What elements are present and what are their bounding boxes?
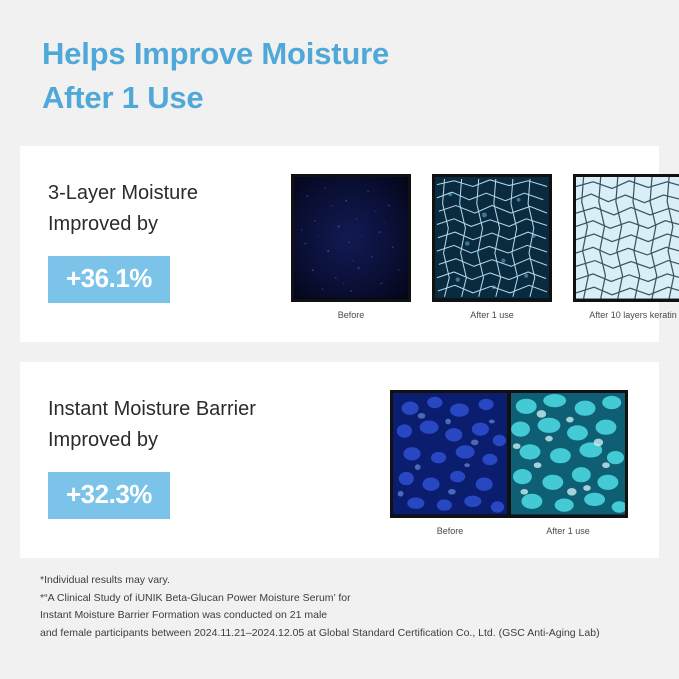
micrograph-texture	[294, 177, 408, 299]
card-2-caption-before: Before	[390, 526, 510, 536]
card-2-caption-after-1-use: After 1 use	[508, 526, 628, 536]
footnote-line-2: *“A Clinical Study of iUNIK Beta-Glucan …	[40, 590, 640, 608]
page-title-line-1: Helps Improve Moisture	[42, 32, 642, 76]
micrograph-before-2	[390, 390, 510, 518]
result-card-instant-moisture-barrier: Instant Moisture Barrier Improved by +32…	[20, 362, 659, 558]
card-1-image-cell-after-1-use: After 1 use	[432, 174, 552, 302]
micrograph-texture	[511, 393, 625, 515]
card-1-caption-after-1-use: After 1 use	[432, 310, 552, 320]
card-1-improvement-badge: +36.1%	[48, 256, 170, 303]
card-2-image-cell-before: Before	[390, 390, 510, 518]
card-1-title-line-1: 3-Layer Moisture	[48, 178, 298, 209]
promo-page: Helps Improve Moisture After 1 Use 3-Lay…	[0, 0, 679, 679]
footnote-line-3: Instant Moisture Barrier Formation was c…	[40, 607, 640, 625]
page-title: Helps Improve Moisture After 1 Use	[42, 32, 642, 120]
card-1-image-cell-after-10-layers: After 10 layers keratin	[573, 174, 679, 302]
footnotes: *Individual results may vary. *“A Clinic…	[40, 572, 640, 642]
card-1-image-cell-before: Before	[291, 174, 411, 302]
micrograph-after-1-use-2	[508, 390, 628, 518]
footnote-line-1: *Individual results may vary.	[40, 572, 640, 590]
micrograph-before-1	[291, 174, 411, 302]
card-2-title-line-2: Improved by	[48, 425, 348, 456]
card-1-image-group: Before	[270, 174, 640, 334]
card-2-image-cell-after-1-use: After 1 use	[508, 390, 628, 518]
card-1-caption-before: Before	[291, 310, 411, 320]
card-2-improvement-badge: +32.3%	[48, 472, 170, 519]
card-1-title: 3-Layer Moisture Improved by	[48, 178, 298, 240]
footnote-line-4: and female participants between 2024.11.…	[40, 625, 640, 643]
card-1-caption-after-10-layers: After 10 layers keratin	[573, 310, 679, 320]
micrograph-after-1-use-1	[432, 174, 552, 302]
card-2-title: Instant Moisture Barrier Improved by	[48, 394, 348, 456]
card-2-title-line-1: Instant Moisture Barrier	[48, 394, 348, 425]
micrograph-texture	[576, 177, 679, 299]
micrograph-texture	[435, 177, 549, 299]
micrograph-after-10-layers-keratin	[573, 174, 679, 302]
page-title-line-2: After 1 Use	[42, 76, 642, 120]
card-2-image-group: Before	[380, 390, 640, 550]
card-1-title-line-2: Improved by	[48, 209, 298, 240]
micrograph-texture	[393, 393, 507, 515]
result-card-3-layer-moisture: 3-Layer Moisture Improved by +36.1%	[20, 146, 659, 342]
